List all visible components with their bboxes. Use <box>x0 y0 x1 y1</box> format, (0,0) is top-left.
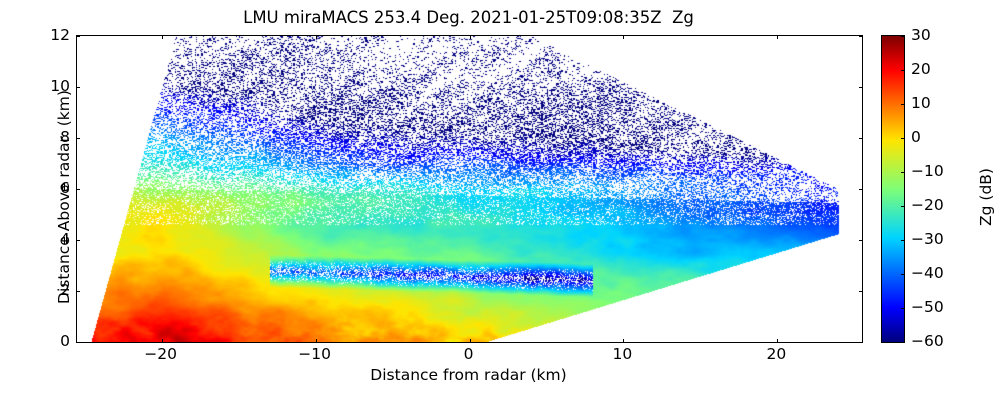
colorbar-tick <box>901 274 905 275</box>
x-tick-label: 0 <box>464 345 474 363</box>
x-tick-bottom <box>623 339 624 343</box>
figure-canvas: LMU miraMACS 253.4 Deg. 2021-01-25T09:08… <box>0 0 1000 400</box>
colorbar-gradient <box>882 36 904 342</box>
y-tick-right <box>859 36 863 37</box>
y-tick-right <box>859 291 863 292</box>
y-tick-left <box>76 87 80 88</box>
y-tick-right <box>859 138 863 139</box>
colorbar-tick-label: −50 <box>911 298 944 316</box>
chart-title: LMU miraMACS 253.4 Deg. 2021-01-25T09:08… <box>76 8 861 28</box>
y-tick-label: 6 <box>60 179 70 197</box>
y-tick-left <box>76 342 80 343</box>
colorbar-tick-label: −60 <box>911 332 944 350</box>
y-tick-right <box>859 342 863 343</box>
colorbar-tick-label: 20 <box>911 60 931 78</box>
x-tick-top <box>623 35 624 39</box>
x-tick-bottom <box>316 339 317 343</box>
colorbar-tick <box>901 240 905 241</box>
colorbar-tick <box>901 308 905 309</box>
plot-axes-frame <box>76 35 863 343</box>
colorbar-tick-label: 0 <box>911 128 921 146</box>
x-tick-bottom <box>162 339 163 343</box>
colorbar-tick <box>901 206 905 207</box>
colorbar-tick <box>901 70 905 71</box>
colorbar-tick <box>901 138 905 139</box>
y-tick-left <box>76 291 80 292</box>
y-tick-right <box>859 189 863 190</box>
x-tick-label: 10 <box>613 345 633 363</box>
colorbar-label: Zg (dB) <box>977 87 995 307</box>
y-tick-left <box>76 189 80 190</box>
x-tick-top <box>777 35 778 39</box>
x-tick-top <box>316 35 317 39</box>
colorbar-tick-label: −30 <box>911 230 944 248</box>
colorbar-tick <box>901 172 905 173</box>
x-tick-label: 20 <box>766 345 786 363</box>
colorbar-tick <box>901 342 905 343</box>
x-tick-label: −10 <box>298 345 331 363</box>
x-axis-label: Distance from radar (km) <box>76 366 861 384</box>
x-tick-label: −20 <box>144 345 177 363</box>
x-tick-top <box>470 35 471 39</box>
y-tick-label: 0 <box>60 332 70 350</box>
y-tick-right <box>859 240 863 241</box>
y-tick-left <box>76 240 80 241</box>
radar-rhi-heatmap <box>77 36 862 342</box>
x-tick-top <box>162 35 163 39</box>
x-tick-bottom <box>777 339 778 343</box>
colorbar-tick <box>901 104 905 105</box>
colorbar <box>881 35 905 343</box>
y-tick-label: 10 <box>50 77 70 95</box>
colorbar-tick-label: 10 <box>911 94 931 112</box>
y-tick-right <box>859 87 863 88</box>
colorbar-tick-label: 30 <box>911 26 931 44</box>
colorbar-tick-label: −20 <box>911 196 944 214</box>
x-tick-bottom <box>470 339 471 343</box>
colorbar-tick-label: −40 <box>911 264 944 282</box>
y-tick-label: 8 <box>60 128 70 146</box>
y-tick-label: 12 <box>50 26 70 44</box>
colorbar-tick-label: −10 <box>911 162 944 180</box>
colorbar-tick <box>901 36 905 37</box>
y-tick-left <box>76 36 80 37</box>
y-tick-left <box>76 138 80 139</box>
y-tick-label: 2 <box>60 281 70 299</box>
y-tick-label: 4 <box>60 230 70 248</box>
